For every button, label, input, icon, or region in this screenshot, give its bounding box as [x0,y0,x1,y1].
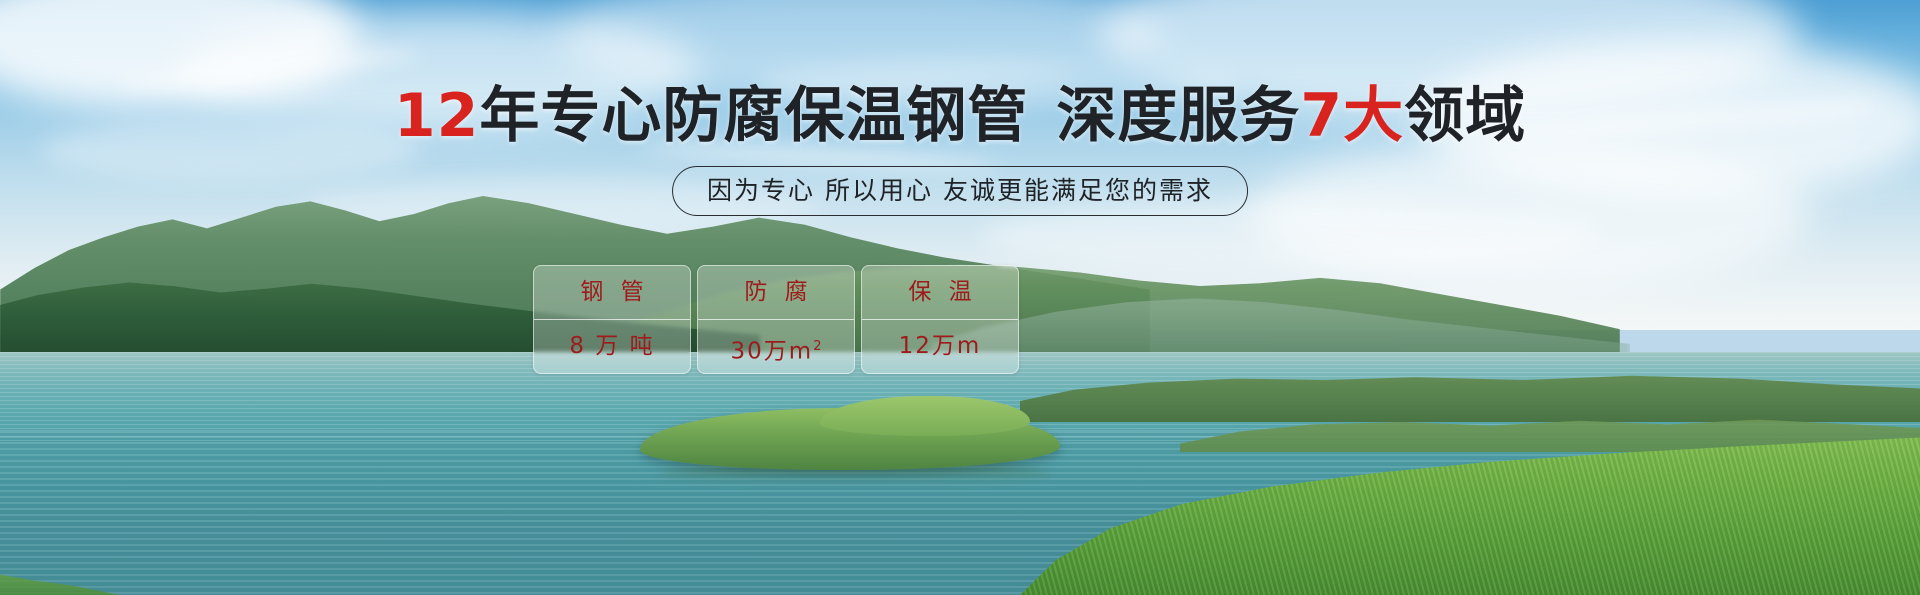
headline-service-text: 深度服务 [1056,81,1300,151]
stat-card-value: 12万m [862,320,1018,373]
stat-card-label: 防 腐 [698,266,854,320]
stat-value-superscript: 2 [813,339,821,354]
stat-card-label: 钢 管 [534,266,690,320]
stat-value-text: 30万m [731,339,814,365]
stat-card-value: 8 万 吨 [534,320,690,373]
headline-years-number: 12 [394,81,480,151]
stat-value-text: 12万m [899,333,982,359]
hero-banner: 12年专心防腐保温钢管深度服务7大领域 因为专心 所以用心 友诚更能满足您的需求… [0,0,1920,595]
stat-card-anticorrosion[interactable]: 防 腐 30万m2 [697,265,855,374]
subtitle-pill: 因为专心 所以用心 友诚更能满足您的需求 [672,166,1248,216]
stat-cards: 钢 管 8 万 吨 防 腐 30万m2 保 温 12万m [533,265,1019,374]
stat-value-text: 8 万 吨 [569,333,654,359]
stat-card-value: 30万m2 [698,320,854,373]
headline-fields-count: 7大 [1300,81,1404,151]
stat-card-label: 保 温 [862,266,1018,320]
headline-main-text: 年专心防腐保温钢管 [479,81,1028,151]
headline-fields-text: 领域 [1404,81,1526,151]
headline: 12年专心防腐保温钢管深度服务7大领域 [0,84,1920,148]
stat-card-steel-pipe[interactable]: 钢 管 8 万 吨 [533,265,691,374]
stat-card-insulation[interactable]: 保 温 12万m [861,265,1019,374]
